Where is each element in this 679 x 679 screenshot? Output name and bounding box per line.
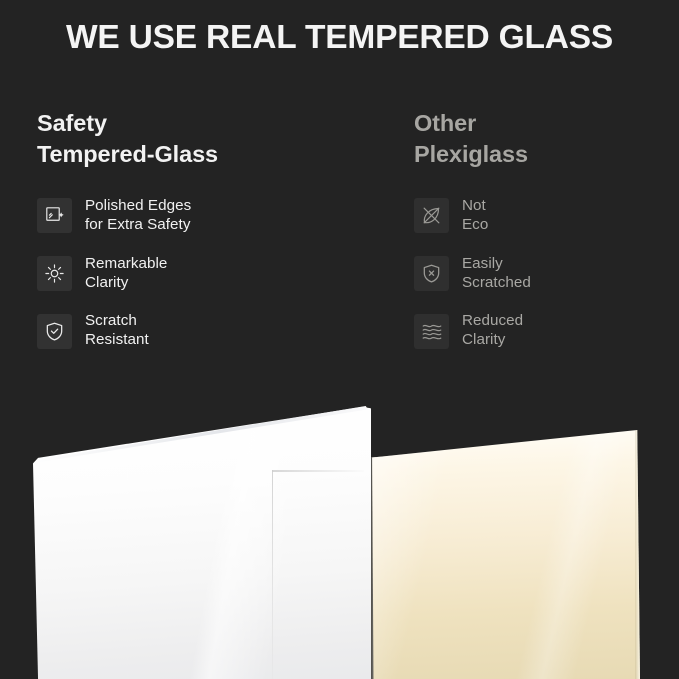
feature-label: Polished Edges for Extra Safety	[85, 197, 191, 235]
feature-scratch-resistant: Scratch Resistant	[37, 312, 377, 350]
infographic-root: WE USE REAL TEMPERED GLASS Safety Temper…	[0, 0, 679, 679]
feature-easily-scratched: Easily Scratched	[414, 255, 664, 293]
feature-label: Easily Scratched	[462, 255, 531, 293]
feature-label: Not Eco	[462, 197, 488, 235]
tempered-glass-reflection-seam-top	[272, 470, 364, 472]
feature-label: Reduced Clarity	[462, 312, 523, 350]
column-plexiglass: Other Plexiglass Not Eco	[414, 108, 664, 350]
feature-list-tempered-glass: Polished Edges for Extra Safety Remarkab…	[37, 197, 377, 350]
shield-x-icon	[414, 256, 449, 291]
wavy-lines-icon	[414, 314, 449, 349]
leaf-crossed-out-icon	[414, 198, 449, 233]
shield-check-icon	[37, 314, 72, 349]
feature-not-eco: Not Eco	[414, 197, 664, 235]
sun-brightness-icon	[37, 256, 72, 291]
tempered-glass-reflection-seam	[272, 470, 273, 679]
feature-label: Remarkable Clarity	[85, 255, 167, 293]
feature-remarkable-clarity: Remarkable Clarity	[37, 255, 377, 293]
column-title-tempered-glass: Safety Tempered-Glass	[37, 108, 377, 170]
product-photo	[0, 396, 679, 679]
feature-reduced-clarity: Reduced Clarity	[414, 312, 664, 350]
plexiglass-panel	[370, 430, 640, 679]
page-title: WE USE REAL TEMPERED GLASS	[0, 19, 679, 58]
feature-list-plexiglass: Not Eco Easily Scratched	[414, 197, 664, 350]
tempered-glass-panel	[33, 404, 371, 679]
feature-polished-edges: Polished Edges for Extra Safety	[37, 197, 377, 235]
polished-square-sparkle-icon	[37, 198, 72, 233]
column-title-plexiglass: Other Plexiglass	[414, 108, 664, 170]
comparison-table: Safety Tempered-Glass Polished Edges for…	[0, 108, 679, 398]
feature-label: Scratch Resistant	[85, 312, 149, 350]
column-tempered-glass: Safety Tempered-Glass Polished Edges for…	[37, 108, 377, 350]
